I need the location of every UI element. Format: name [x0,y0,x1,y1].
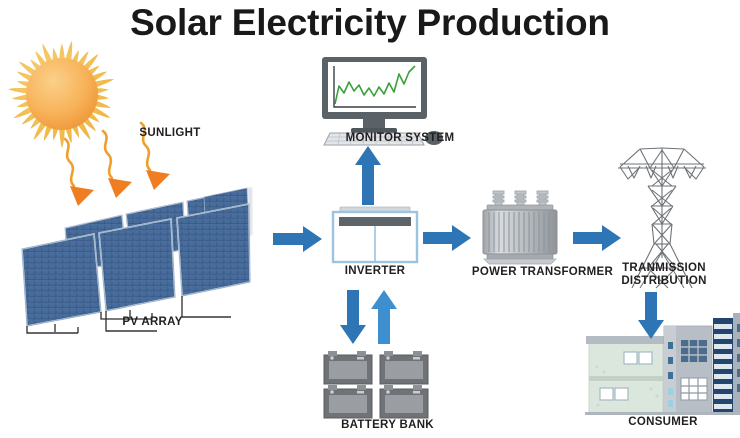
arrow-pv-to-inverter [273,226,322,252]
arrow-inverter-to-transformer [423,225,471,251]
arrow-battery-to-inverter [371,290,397,344]
arrow-transformer-to-tower [573,225,621,251]
arrow-inverter-to-battery [340,290,366,344]
arrow-tower-to-consumer [638,292,664,339]
infographic-canvas: Solar Electricity Production [0,0,740,438]
flow-arrows [0,0,740,438]
arrow-inverter-to-monitor [355,146,381,205]
